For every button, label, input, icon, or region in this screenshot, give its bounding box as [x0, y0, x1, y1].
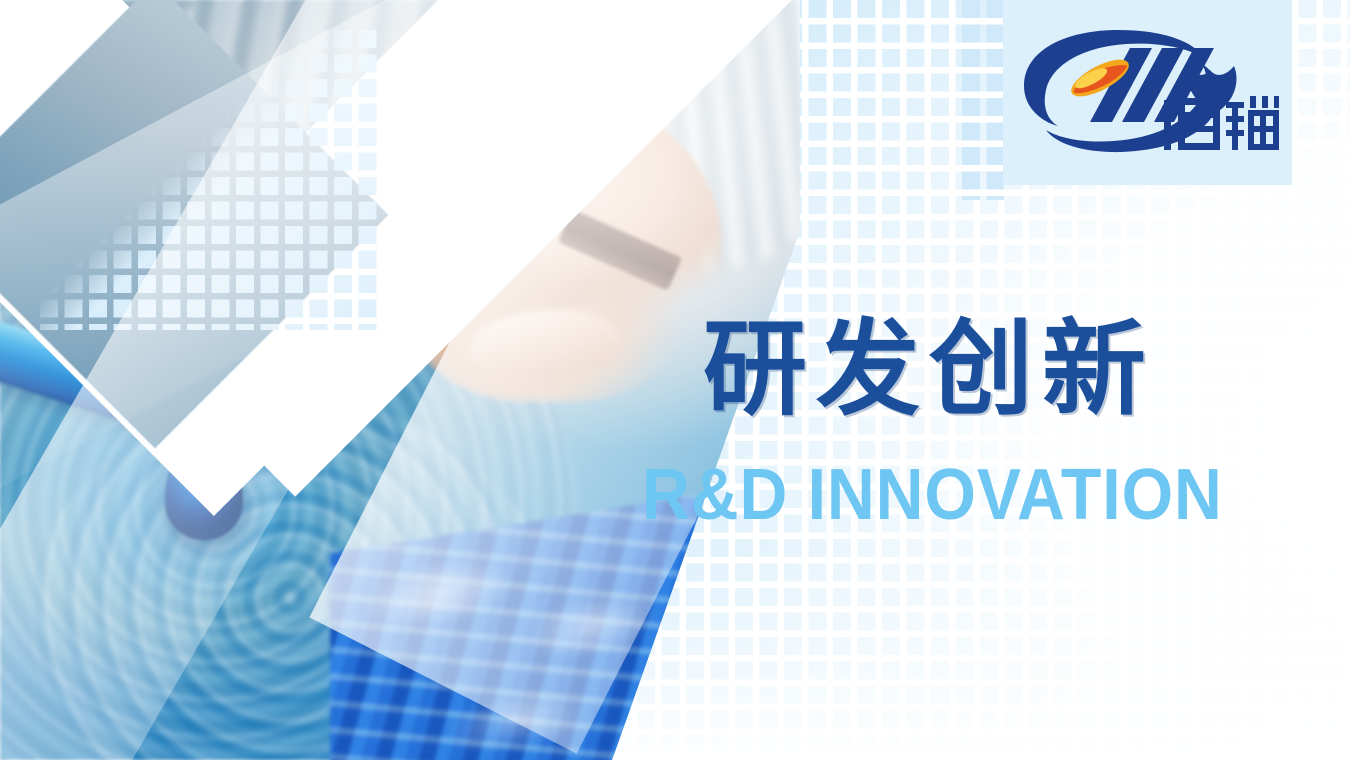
page-subtitle-en: R&D INNOVATION — [642, 459, 1223, 531]
logo-side-grid — [962, 0, 1004, 200]
hengrui-logo[interactable] — [1018, 26, 1280, 156]
page-title-cn: 研发创新 — [703, 317, 1155, 421]
hengrui-logo-icon — [1018, 26, 1280, 156]
rd-innovation-banner: 研发创新 R&D INNOVATION — [0, 0, 1350, 760]
